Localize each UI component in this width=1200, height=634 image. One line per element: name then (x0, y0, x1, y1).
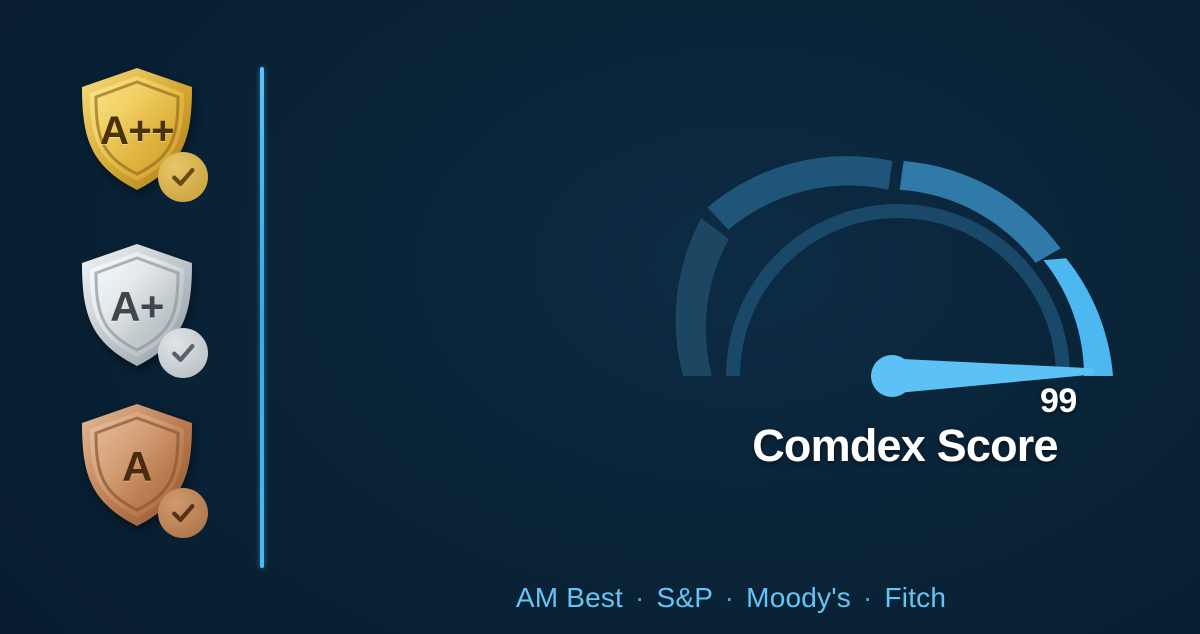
check-badge-icon (158, 488, 208, 538)
agency-am-best: AM Best (516, 582, 623, 613)
comdex-gauge: 99 Comdex Score (640, 110, 1170, 490)
agency-sp: S&P (657, 582, 713, 613)
agency-separator: · (859, 582, 877, 613)
rating-badge-gold: A++ (78, 66, 210, 212)
vertical-divider (260, 67, 264, 568)
agency-separator: · (631, 582, 649, 613)
check-icon (168, 498, 198, 528)
gauge-chart (640, 110, 1170, 410)
rating-badge-silver: A+ (78, 242, 210, 388)
gauge-value-label: 99 (1040, 382, 1150, 421)
check-icon (168, 338, 198, 368)
gauge-segment-1 (676, 218, 729, 376)
check-badge-icon (158, 328, 208, 378)
agency-moodys: Moody's (746, 582, 851, 613)
agency-separator: · (721, 582, 739, 613)
rating-badge-bronze: A (78, 402, 210, 548)
rating-summary-graphic: A++ (0, 0, 1200, 634)
check-icon (168, 162, 198, 192)
check-badge-icon (158, 152, 208, 202)
rating-agencies-footer: AM Best · S&P · Moody's · Fitch (262, 582, 1200, 614)
agency-fitch: Fitch (884, 582, 946, 613)
ratings-column: A++ (0, 0, 262, 634)
gauge-title: Comdex Score (640, 420, 1170, 472)
